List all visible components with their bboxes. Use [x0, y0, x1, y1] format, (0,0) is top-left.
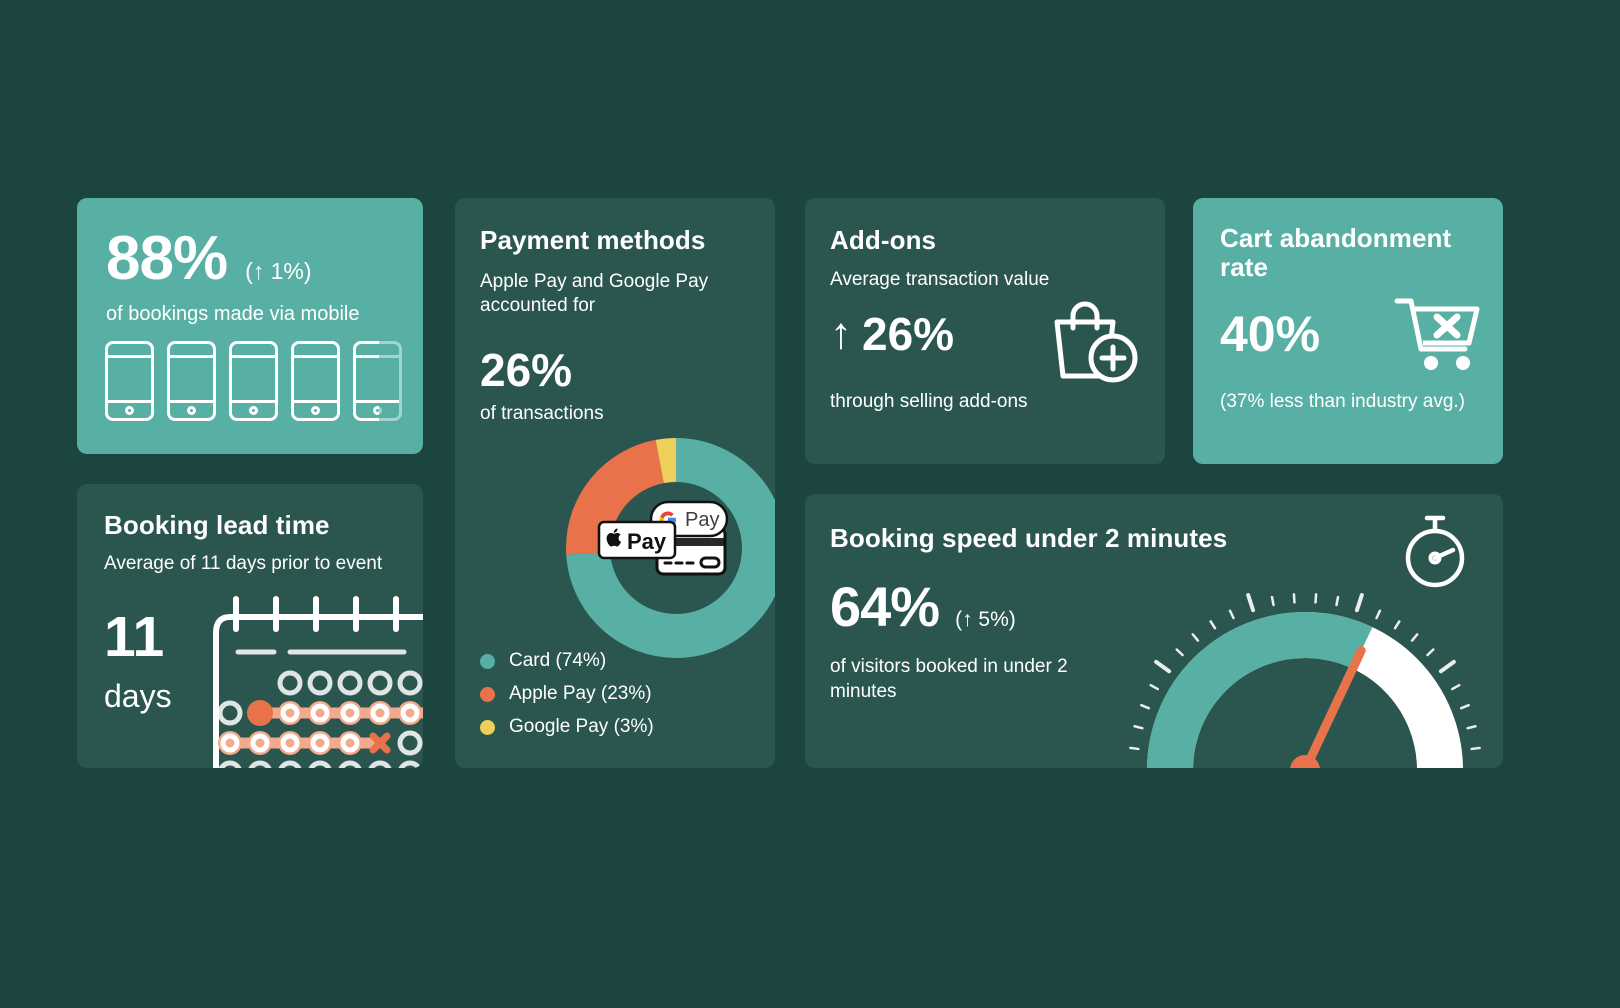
- addons-percentage: 26%: [862, 311, 954, 357]
- svg-text:Pay: Pay: [685, 509, 719, 531]
- gauge-tick: [1211, 621, 1215, 628]
- addons-caption: through selling add-ons: [830, 391, 1028, 413]
- legend-label-apple-pay: Apple Pay (23%): [509, 683, 652, 705]
- gauge-tick: [1294, 594, 1295, 602]
- gauge-tick: [1441, 662, 1454, 671]
- gauge-tick: [1427, 650, 1433, 655]
- mobile-phone-icon: [105, 341, 154, 421]
- payment-subtitle: Apple Pay and Google Pay accounted for: [480, 270, 730, 318]
- payment-icons-group: Pay Pay: [597, 500, 729, 590]
- gauge-tick: [1230, 611, 1233, 618]
- cart-removed-icon: [1393, 293, 1485, 373]
- gauge-tick: [1472, 748, 1480, 749]
- card-payment-methods: Payment methods Apple Pay and Google Pay…: [455, 198, 775, 768]
- gauge-tick: [1461, 705, 1468, 708]
- svg-text:Pay: Pay: [627, 529, 667, 554]
- payment-percentage: 26%: [480, 347, 572, 393]
- gauge-tick: [1395, 621, 1399, 628]
- lead-time-number: 11: [104, 609, 164, 666]
- legend-swatch-google-pay: [480, 720, 495, 735]
- gauge-tick: [1272, 597, 1273, 605]
- gauge-tick: [1248, 595, 1253, 610]
- stopwatch-icon: [1399, 512, 1471, 590]
- legend-item: Apple Pay (23%): [480, 683, 654, 705]
- speed-gauge-chart: [1115, 580, 1495, 768]
- gauge-tick: [1177, 650, 1183, 655]
- gauge-needle: [1290, 651, 1361, 768]
- mobile-phone-icon: [229, 341, 278, 421]
- legend-item: Card (74%): [480, 650, 654, 672]
- mobile-percentage: 88%: [106, 228, 227, 290]
- legend-item: Google Pay (3%): [480, 716, 654, 738]
- addons-stat-row: ↑ 26%: [830, 311, 954, 357]
- card-mobile-bookings: 88% (↑ 1%) of bookings made via mobile: [77, 198, 423, 454]
- lead-time-title: Booking lead time: [104, 511, 330, 540]
- mobile-phone-icon-partial: [353, 341, 402, 421]
- calendar-icon: [208, 593, 423, 768]
- gauge-tick: [1336, 597, 1337, 605]
- card-booking-speed: Booking speed under 2 minutes 64% (↑ 5%)…: [805, 494, 1503, 768]
- addons-subtitle: Average transaction value: [830, 268, 1049, 292]
- card-cart-abandonment: Cart abandonment rate 40% (37% less than…: [1193, 198, 1503, 464]
- gauge-tick: [1135, 726, 1143, 728]
- legend-swatch-apple-pay: [480, 687, 495, 702]
- legend-swatch-card: [480, 654, 495, 669]
- shopping-bag-plus-icon: [1043, 292, 1139, 388]
- payment-caption: of transactions: [480, 403, 604, 425]
- mobile-delta: (↑ 1%): [245, 258, 311, 285]
- speed-percentage: 64%: [830, 579, 939, 635]
- apple-pay-icon: Pay: [599, 522, 675, 558]
- payment-title: Payment methods: [480, 226, 705, 255]
- gauge-tick: [1151, 685, 1158, 689]
- calendar-event-x-icon: [373, 736, 387, 750]
- gauge-tick: [1412, 634, 1417, 640]
- mobile-phone-icon: [291, 341, 340, 421]
- speed-stat-row: 64% (↑ 5%): [830, 579, 1016, 635]
- speed-delta: (↑ 5%): [955, 608, 1016, 632]
- mobile-stat-row: 88% (↑ 1%): [106, 228, 312, 290]
- gauge-tick: [1156, 662, 1169, 671]
- gauge-tick: [1452, 685, 1459, 689]
- cart-caption: (37% less than industry avg.): [1220, 391, 1465, 413]
- gauge-tick: [1316, 594, 1317, 602]
- legend-label-card: Card (74%): [509, 650, 606, 672]
- legend-label-google-pay: Google Pay (3%): [509, 716, 654, 738]
- cart-title: Cart abandonment rate: [1220, 224, 1470, 282]
- mobile-caption: of bookings made via mobile: [106, 302, 359, 327]
- speed-title: Booking speed under 2 minutes: [830, 524, 1227, 553]
- card-addons: Add-ons Average transaction value ↑ 26% …: [805, 198, 1165, 464]
- mobile-phone-icon: [167, 341, 216, 421]
- card-booking-lead-time: Booking lead time Average of 11 days pri…: [77, 484, 423, 768]
- gauge-tick: [1193, 634, 1198, 640]
- mobile-phone-row: [105, 341, 402, 421]
- gauge-tick: [1141, 705, 1148, 708]
- cart-percentage: 40%: [1220, 309, 1320, 359]
- gauge-tick: [1377, 611, 1380, 618]
- gauge-tick: [1357, 595, 1362, 610]
- speed-caption: of visitors booked in under 2 minutes: [830, 655, 1105, 704]
- lead-time-subtitle: Average of 11 days prior to event: [104, 552, 382, 576]
- payment-legend: Card (74%) Apple Pay (23%) Google Pay (3…: [480, 650, 654, 749]
- gauge-tick: [1468, 726, 1476, 728]
- gauge-tick: [1130, 748, 1138, 749]
- lead-time-unit: days: [104, 678, 172, 715]
- addons-title: Add-ons: [830, 226, 936, 255]
- infographic-dashboard: 88% (↑ 1%) of bookings made via mobile B…: [0, 0, 1620, 1008]
- up-arrow-icon: ↑: [830, 312, 852, 356]
